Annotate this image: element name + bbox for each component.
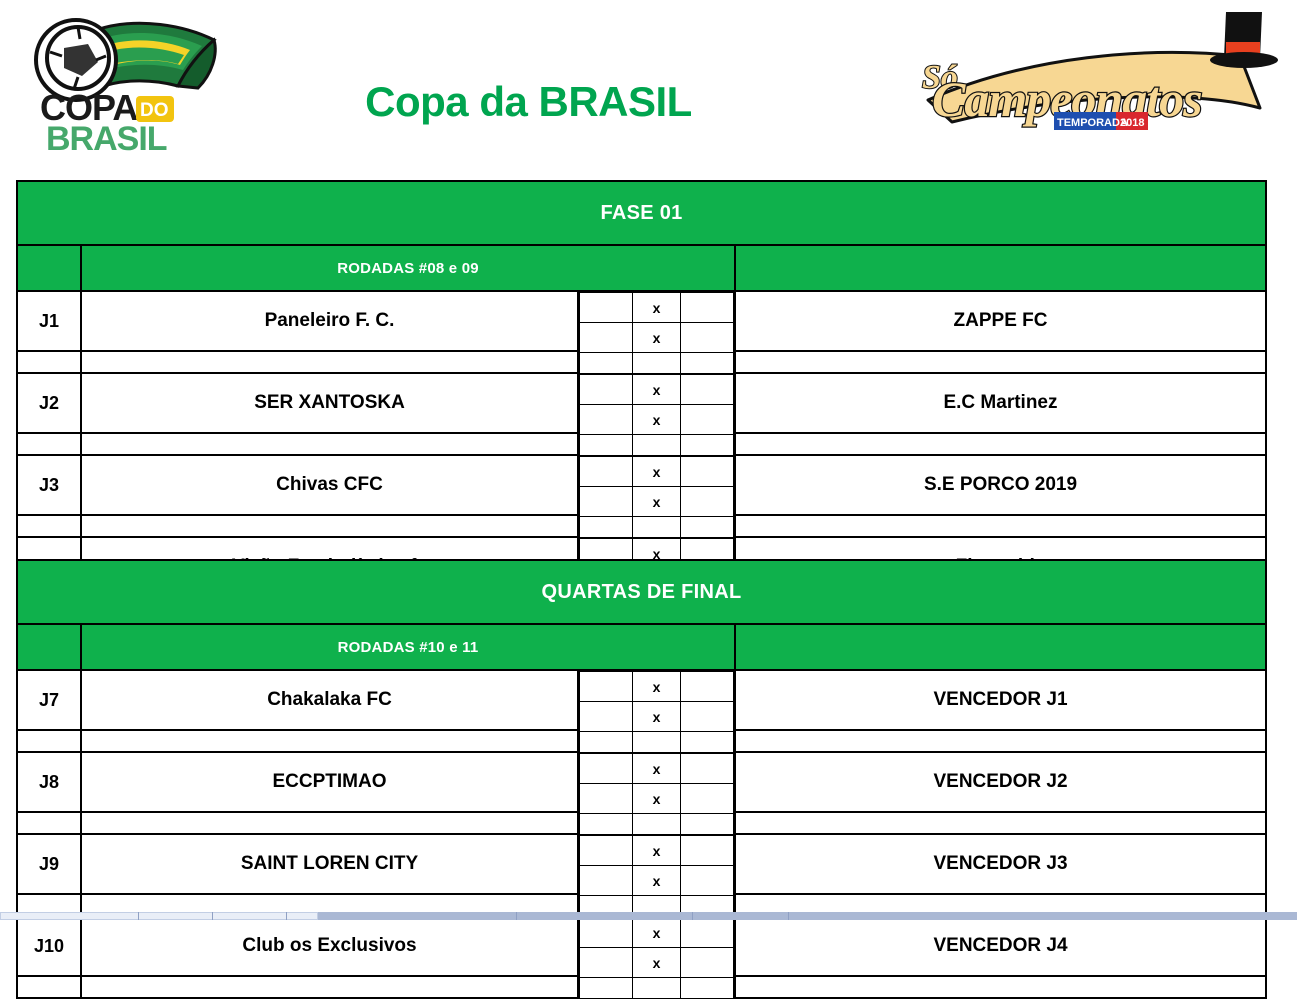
away-team[interactable]: S.E PORCO 2019 [735, 455, 1266, 515]
scrollbar-tick [212, 912, 213, 920]
away-team[interactable]: VENCEDOR J2 [735, 752, 1266, 812]
away-team[interactable]: ZAPPE FC [735, 291, 1266, 351]
spacer-away [735, 515, 1266, 537]
home-score-leg2[interactable] [580, 487, 633, 517]
score-cell[interactable]: x x [578, 373, 735, 433]
spacer-code [17, 433, 81, 455]
round-left-blank [17, 624, 81, 670]
spacer-score-c [680, 353, 733, 374]
spacer-score-b [633, 435, 681, 456]
round-row: RODADAS #08 e 09 [17, 245, 1266, 291]
home-score-leg1[interactable] [580, 293, 633, 323]
score-grid: x x [579, 753, 734, 811]
score-separator-top: x [633, 754, 681, 784]
home-score-leg2[interactable] [580, 784, 633, 814]
home-score-leg2[interactable] [580, 323, 633, 353]
table-row[interactable]: J9 SAINT LOREN CITY x x [17, 834, 1266, 894]
match-code: J7 [17, 670, 81, 730]
away-score-leg1[interactable] [680, 754, 733, 784]
away-score-leg2[interactable] [680, 784, 733, 814]
score-separator-top: x [633, 918, 681, 948]
table-row[interactable]: J8 ECCPTIMAO x x [17, 752, 1266, 812]
away-score-leg2[interactable] [680, 405, 733, 435]
spacer-score-b [633, 978, 681, 999]
home-team[interactable]: Club os Exclusivos [81, 916, 578, 976]
spacer-code [17, 730, 81, 752]
scrollbar-tick [788, 912, 789, 920]
home-score-leg2[interactable] [580, 405, 633, 435]
phase-title-row: FASE 01 [17, 181, 1266, 245]
away-score-leg1[interactable] [680, 293, 733, 323]
score-grid: x x [579, 292, 734, 350]
spacer-row [17, 515, 1266, 537]
away-score-leg1[interactable] [680, 457, 733, 487]
table-row[interactable]: J1 Paneleiro F. C. x x [17, 291, 1266, 351]
spacer-away [735, 351, 1266, 373]
home-score-leg1[interactable] [580, 375, 633, 405]
match-code: J9 [17, 834, 81, 894]
scrollbar-tick [286, 912, 287, 920]
spacer-score [578, 351, 735, 373]
score-cell[interactable]: x x [578, 455, 735, 515]
match-code: J8 [17, 752, 81, 812]
home-score-leg1[interactable] [580, 754, 633, 784]
spacer-away [735, 730, 1266, 752]
spacer-score-b [633, 353, 681, 374]
temporada-badge: TEMPORADA 2018 [1054, 112, 1148, 130]
spacer-home [81, 433, 578, 455]
spacer-home [81, 812, 578, 834]
page-title-text: Copa da BRASIL [365, 78, 692, 126]
score-grid: x x [579, 671, 734, 729]
home-team[interactable]: SER XANTOSKA [81, 373, 578, 433]
score-separator-top: x [633, 672, 681, 702]
round-label-quartas-de-final: RODADAS #10 e 11 [81, 624, 735, 670]
phase-title-fase-01: FASE 01 [17, 181, 1266, 245]
spacer-score-a [580, 978, 633, 999]
table-row[interactable]: J10 Club os Exclusivos x x [17, 916, 1266, 976]
score-separator-top: x [633, 457, 681, 487]
away-score-leg2[interactable] [680, 323, 733, 353]
score-separator-top: x [633, 293, 681, 323]
table-row[interactable]: J3 Chivas CFC x x [17, 455, 1266, 515]
spacer-away [735, 433, 1266, 455]
spacer-away [735, 976, 1266, 998]
score-grid: x x [579, 456, 734, 514]
table-row[interactable]: J7 Chakalaka FC x x [17, 670, 1266, 730]
spacer-score-c [680, 814, 733, 835]
spacer-score-b [633, 517, 681, 538]
score-cell[interactable]: x x [578, 834, 735, 894]
phase-title-quartas-de-final: QUARTAS DE FINAL [17, 560, 1266, 624]
score-separator-bottom: x [633, 784, 681, 814]
scrollbar-tick [516, 912, 517, 920]
spacer-code [17, 351, 81, 373]
spacer-score-c [680, 435, 733, 456]
score-separator-bottom: x [633, 487, 681, 517]
spacer-row [17, 812, 1266, 834]
away-score-leg2[interactable] [680, 948, 733, 978]
score-separator-top: x [633, 375, 681, 405]
away-score-leg2[interactable] [680, 702, 733, 732]
spacer-score-b [633, 732, 681, 753]
spacer-score [578, 515, 735, 537]
phase-title-row: QUARTAS DE FINAL [17, 560, 1266, 624]
bracket-table-quartas-de-final: QUARTAS DE FINAL RODADAS #10 e 11 J7 Cha… [16, 559, 1267, 999]
spacer-code [17, 812, 81, 834]
spacer-away [735, 812, 1266, 834]
home-team[interactable]: ECCPTIMAO [81, 752, 578, 812]
score-cell[interactable]: x x [578, 291, 735, 351]
spacer-score-a [580, 732, 633, 753]
page-header: COPA DO BRASIL Copa da BRASIL Só Campeon… [0, 0, 1297, 165]
spacer-score-c [680, 732, 733, 753]
spacer-score [578, 433, 735, 455]
spacer-code [17, 976, 81, 998]
spacer-score-a [580, 435, 633, 456]
spacer-score [578, 812, 735, 834]
horizontal-scrollbar[interactable] [0, 912, 1297, 920]
away-score-leg1[interactable] [680, 918, 733, 948]
away-score-leg2[interactable] [680, 487, 733, 517]
away-team[interactable]: VENCEDOR J1 [735, 670, 1266, 730]
match-code: J3 [17, 455, 81, 515]
home-score-leg2[interactable] [580, 948, 633, 978]
home-score-leg2[interactable] [580, 866, 633, 896]
table-row[interactable]: J2 SER XANTOSKA x x [17, 373, 1266, 433]
spacer-score-a [580, 353, 633, 374]
spacer-score [578, 976, 735, 998]
svg-text:2018: 2018 [1120, 117, 1144, 129]
home-score-leg1[interactable] [580, 918, 633, 948]
spacer-score-c [680, 517, 733, 538]
away-team[interactable]: VENCEDOR J4 [735, 916, 1266, 976]
score-separator-bottom: x [633, 702, 681, 732]
so-campeonatos-logo: Só Campeonatos TEMPORADA 2018 [888, 4, 1288, 154]
spacer-home [81, 730, 578, 752]
score-separator-bottom: x [633, 866, 681, 896]
score-grid: x x [579, 917, 734, 975]
home-score-leg1[interactable] [580, 672, 633, 702]
home-score-leg2[interactable] [580, 702, 633, 732]
away-score-leg2[interactable] [680, 866, 733, 896]
round-right-blank [735, 624, 1266, 670]
home-score-leg1[interactable] [580, 836, 633, 866]
top-hat-icon [1210, 12, 1278, 68]
spacer-score-c [680, 978, 733, 999]
so-campeonatos-logo-graphic: Só Campeonatos TEMPORADA 2018 [888, 4, 1288, 154]
round-left-blank [17, 245, 81, 291]
spacer-score-a [580, 517, 633, 538]
scrollbar-tick [692, 912, 693, 920]
score-separator-bottom: x [633, 323, 681, 353]
spacer-row [17, 730, 1266, 752]
spacer-home [81, 976, 578, 998]
match-code: J10 [17, 916, 81, 976]
spacer-home [81, 515, 578, 537]
away-team[interactable]: VENCEDOR J3 [735, 834, 1266, 894]
match-code: J2 [17, 373, 81, 433]
round-right-blank [735, 245, 1266, 291]
spacer-score [578, 730, 735, 752]
score-cell[interactable]: x x [578, 752, 735, 812]
round-label-fase-01: RODADAS #08 e 09 [81, 245, 735, 291]
bracket-table-fase-01: FASE 01 RODADAS #08 e 09 J1 Paneleiro F.… [16, 180, 1267, 620]
away-team[interactable]: E.C Martinez [735, 373, 1266, 433]
spacer-code [17, 515, 81, 537]
svg-text:TEMPORADA: TEMPORADA [1057, 117, 1128, 129]
home-team[interactable]: SAINT LOREN CITY [81, 834, 578, 894]
score-separator-bottom: x [633, 948, 681, 978]
score-cell[interactable]: x x [578, 670, 735, 730]
away-score-leg1[interactable] [680, 672, 733, 702]
away-score-leg1[interactable] [680, 375, 733, 405]
home-score-leg1[interactable] [580, 457, 633, 487]
home-team[interactable]: Chakalaka FC [81, 670, 578, 730]
spacer-row [17, 433, 1266, 455]
scrollbar-thumb[interactable] [0, 912, 318, 920]
score-separator-top: x [633, 836, 681, 866]
score-cell[interactable]: x x [578, 916, 735, 976]
spacer-row [17, 351, 1266, 373]
away-score-leg1[interactable] [680, 836, 733, 866]
score-grid: x x [579, 835, 734, 893]
score-grid: x x [579, 374, 734, 432]
scrollbar-tick [138, 912, 139, 920]
spacer-row [17, 976, 1266, 998]
home-team[interactable]: Chivas CFC [81, 455, 578, 515]
match-code: J1 [17, 291, 81, 351]
spacer-score-b [633, 814, 681, 835]
round-row: RODADAS #10 e 11 [17, 624, 1266, 670]
spacer-score-a [580, 814, 633, 835]
score-separator-bottom: x [633, 405, 681, 435]
home-team[interactable]: Paneleiro F. C. [81, 291, 578, 351]
spacer-home [81, 351, 578, 373]
